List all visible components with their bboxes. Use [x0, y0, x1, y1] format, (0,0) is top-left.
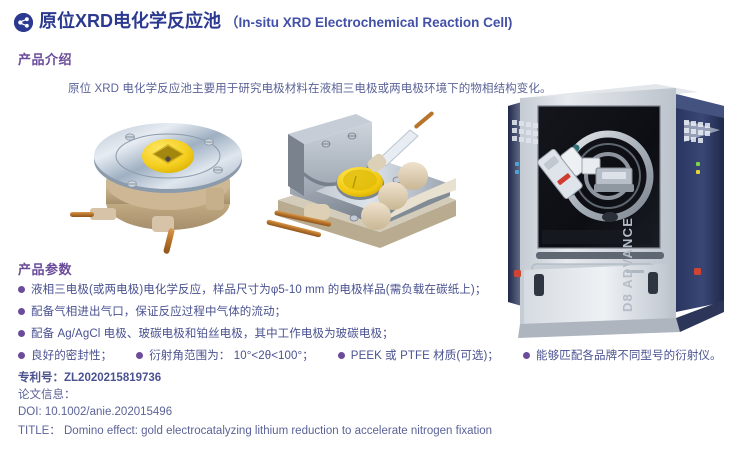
page-header: 原位XRD电化学反应池 （In-situ XRD Electrochemical… — [14, 10, 512, 34]
bullet-dot-icon — [18, 330, 25, 337]
bullet-row: 配备 Ag/AgCl 电极、玻碳电极和铂丝电极，其中工作电极为玻碳电极； — [18, 322, 738, 344]
bullet-label: 良好的密封性； — [31, 347, 112, 363]
paper-doi: DOI: 10.1002/anie.202015496 — [18, 404, 492, 421]
paper-info-label: 论文信息： — [18, 387, 492, 404]
bullet-dot-icon — [523, 352, 530, 359]
bullet-item: PEEK 或 PTFE 材质(可选)； — [338, 347, 499, 363]
share-nodes-icon — [14, 13, 33, 32]
product-datasheet-page: 原位XRD电化学反应池 （In-situ XRD Electrochemical… — [0, 0, 742, 454]
bullet-label: 液相三电极(或两电极)电化学反应，样品尺寸为φ5-10 mm 的电极样品(需负载… — [31, 281, 486, 297]
page-title: 原位XRD电化学反应池 — [39, 10, 221, 32]
bullet-label: PEEK 或 PTFE 材质(可选)； — [351, 347, 499, 363]
bullet-label: 衍射角范围为： 10°<2θ<100°； — [149, 347, 314, 363]
bullet-row: 配备气相进出气口，保证反应过程中气体的流动； — [18, 300, 738, 322]
bullet-dot-icon — [136, 352, 143, 359]
bullet-dot-icon — [18, 308, 25, 315]
bullet-label: 配备 Ag/AgCl 电极、玻碳电极和铂丝电极，其中工作电极为玻碳电极； — [31, 325, 394, 341]
bullet-row: 液相三电极(或两电极)电化学反应，样品尺寸为φ5-10 mm 的电极样品(需负载… — [18, 278, 738, 300]
bullet-item: 配备气相进出气口，保证反应过程中气体的流动； — [18, 303, 286, 319]
bullet-label: 能够匹配各品牌不同型号的衍射仪。 — [536, 347, 722, 363]
bullet-item: 衍射角范围为： 10°<2θ<100°； — [136, 347, 314, 363]
section-heading-params: 产品参数 — [18, 259, 72, 278]
patent-number: 专利号：ZL2020215819736 — [18, 370, 492, 387]
intro-paragraph: 原位 XRD 电化学反应池主要用于研究电极材料在液相三电极或两电极环境下的物相结… — [68, 80, 552, 96]
block-cell-photo — [260, 104, 475, 259]
gas-port-left — [70, 208, 116, 220]
bullet-label: 配备气相进出气口，保证反应过程中气体的流动； — [31, 303, 286, 319]
gas-port-front — [152, 216, 175, 254]
parameter-bullet-list: 液相三电极(或两电极)电化学反应，样品尺寸为φ5-10 mm 的电极样品(需负载… — [18, 278, 738, 366]
bullet-dot-icon — [18, 286, 25, 293]
bullet-row: 良好的密封性； 衍射角范围为： 10°<2θ<100°； PEEK 或 PTFE… — [18, 344, 738, 366]
bullet-item: 液相三电极(或两电极)电化学反应，样品尺寸为φ5-10 mm 的电极样品(需负载… — [18, 281, 486, 297]
footer-info: 专利号：ZL2020215819736 论文信息： DOI: 10.1002/a… — [18, 370, 492, 440]
bullet-item: 良好的密封性； — [18, 347, 112, 363]
bullet-dot-icon — [338, 352, 345, 359]
reference-electrode — [366, 111, 435, 174]
page-subtitle-en: （In-situ XRD Electrochemical Reaction Ce… — [225, 12, 512, 34]
round-cell-photo — [68, 104, 268, 259]
bullet-item: 能够匹配各品牌不同型号的衍射仪。 — [523, 347, 722, 363]
bullet-item: 配备 Ag/AgCl 电极、玻碳电极和铂丝电极，其中工作电极为玻碳电极； — [18, 325, 394, 341]
product-photo-group — [60, 100, 490, 260]
paper-title: TITLE： Domino effect: gold electrocataly… — [18, 423, 492, 440]
bullet-dot-icon — [18, 352, 25, 359]
section-heading-intro: 产品介绍 — [18, 49, 72, 68]
